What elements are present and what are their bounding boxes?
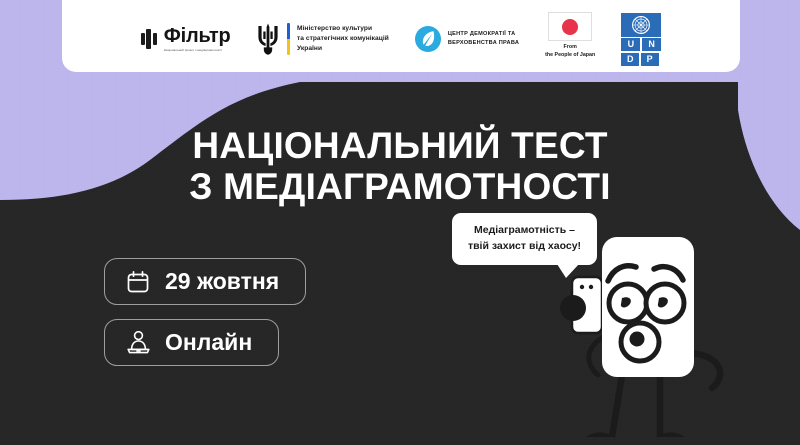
filtr-logo-subtitle: Національний проєкт з медіаграмотності bbox=[164, 48, 231, 52]
calendar-icon bbox=[125, 269, 151, 295]
filtr-mark-icon bbox=[141, 29, 157, 49]
ministry-line-3: України bbox=[297, 44, 389, 54]
logo-undp: U N D P bbox=[621, 12, 661, 66]
ministry-line-2: та стратегічних комунікацій bbox=[297, 34, 389, 44]
quill-feather-icon bbox=[415, 26, 441, 52]
japan-caption-line-2: the People of Japan bbox=[545, 52, 595, 60]
filtr-logo-title: Фільтр bbox=[164, 26, 231, 46]
mascot-phone-character bbox=[560, 225, 740, 445]
page-title: НАЦІОНАЛЬНИЙ ТЕСТ З МЕДІАГРАМОТНОСТІ bbox=[0, 125, 800, 208]
ukraine-flag-bar-icon bbox=[287, 23, 290, 55]
cedem-line-1: ЦЕНТР ДЕМОКРАТІЇ ТА bbox=[448, 30, 519, 39]
ukraine-trident-icon bbox=[256, 22, 280, 56]
logo-ministry-of-culture: Міністерство культури та стратегічних ко… bbox=[256, 12, 388, 66]
partner-logo-bar: Фільтр Національний проєкт з медіаграмот… bbox=[62, 0, 740, 72]
undp-letter-p: P bbox=[641, 53, 659, 66]
ministry-line-1: Міністерство культури bbox=[297, 24, 389, 34]
event-details: 29 жовтня Онлайн bbox=[104, 258, 306, 366]
pill-format[interactable]: Онлайн bbox=[104, 319, 279, 366]
pill-date[interactable]: 29 жовтня bbox=[104, 258, 306, 305]
japan-caption: From the People of Japan bbox=[545, 44, 595, 60]
title-line-2: З МЕДІАГРАМОТНОСТІ bbox=[0, 166, 800, 207]
logo-cedem: ЦЕНТР ДЕМОКРАТІЇ ТА ВЕРХОВЕНСТВА ПРАВА bbox=[415, 12, 519, 66]
cedem-logo-text: ЦЕНТР ДЕМОКРАТІЇ ТА ВЕРХОВЕНСТВА ПРАВА bbox=[448, 30, 519, 48]
title-line-1: НАЦІОНАЛЬНИЙ ТЕСТ bbox=[192, 125, 607, 166]
ministry-logo-text: Міністерство культури та стратегічних ко… bbox=[297, 24, 389, 54]
online-person-laptop-icon bbox=[125, 330, 151, 356]
pill-date-label: 29 жовтня bbox=[165, 268, 279, 295]
logo-filtr: Фільтр Національний проєкт з медіаграмот… bbox=[141, 12, 231, 66]
pill-format-label: Онлайн bbox=[165, 329, 252, 356]
un-emblem-icon bbox=[621, 13, 661, 37]
japan-caption-line-1: From bbox=[545, 44, 595, 52]
undp-letter-n: N bbox=[642, 38, 661, 51]
undp-letter-u: U bbox=[621, 38, 640, 51]
logo-japan-aid: From the People of Japan bbox=[545, 12, 595, 66]
poster-canvas: Фільтр Національний проєкт з медіаграмот… bbox=[0, 0, 800, 445]
undp-letter-d: D bbox=[621, 53, 639, 66]
mascot-legs bbox=[586, 375, 685, 437]
japan-flag-icon bbox=[548, 12, 592, 41]
cedem-line-2: ВЕРХОВЕНСТВА ПРАВА bbox=[448, 39, 519, 48]
